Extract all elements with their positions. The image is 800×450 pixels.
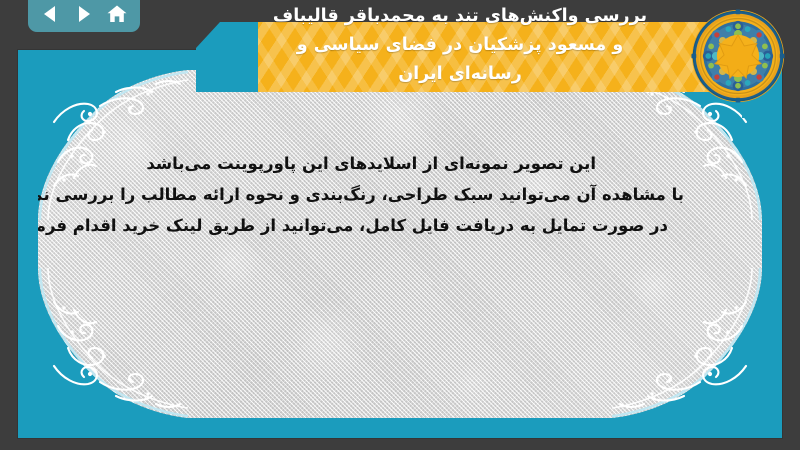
- title-line-3: رسانه‌ای ایران: [210, 60, 710, 89]
- next-button[interactable]: [70, 1, 98, 27]
- body-line-1: این تصویر نمونه‌ای از اسلایدهای این پاور…: [78, 148, 684, 179]
- body-line-3: در صورت تمایل به دریافت فایل کامل، می‌تو…: [78, 210, 684, 241]
- slide-card: این تصویر نمونه‌ای از اسلایدهای این پاور…: [18, 50, 782, 438]
- navigation-toolbar: [28, 0, 140, 32]
- slide-content-area: این تصویر نمونه‌ای از اسلایدهای این پاور…: [38, 70, 762, 418]
- slide-preview-window: بررسی واکنش‌های تند به محمدباقر قالیباف …: [0, 0, 800, 450]
- prev-triangle-icon: [41, 4, 61, 24]
- page-title: بررسی واکنش‌های تند به محمدباقر قالیباف …: [210, 2, 710, 89]
- slide-body-text: این تصویر نمونه‌ای از اسلایدهای این پاور…: [78, 148, 684, 241]
- next-triangle-icon: [74, 4, 94, 24]
- islamic-filigree-corner-ornament: [612, 268, 762, 418]
- home-icon: [106, 4, 128, 24]
- prev-button[interactable]: [37, 1, 65, 27]
- title-line-1: بررسی واکنش‌های تند به محمدباقر قالیباف: [210, 2, 710, 31]
- body-line-2: با مشاهده آن می‌توانید سبک طراحی، رنگ‌بن…: [78, 179, 684, 210]
- islamic-filigree-corner-ornament: [38, 268, 188, 418]
- title-line-2: و مسعود پزشکیان در فضای سیاسی و: [210, 31, 710, 60]
- home-button[interactable]: [103, 1, 131, 27]
